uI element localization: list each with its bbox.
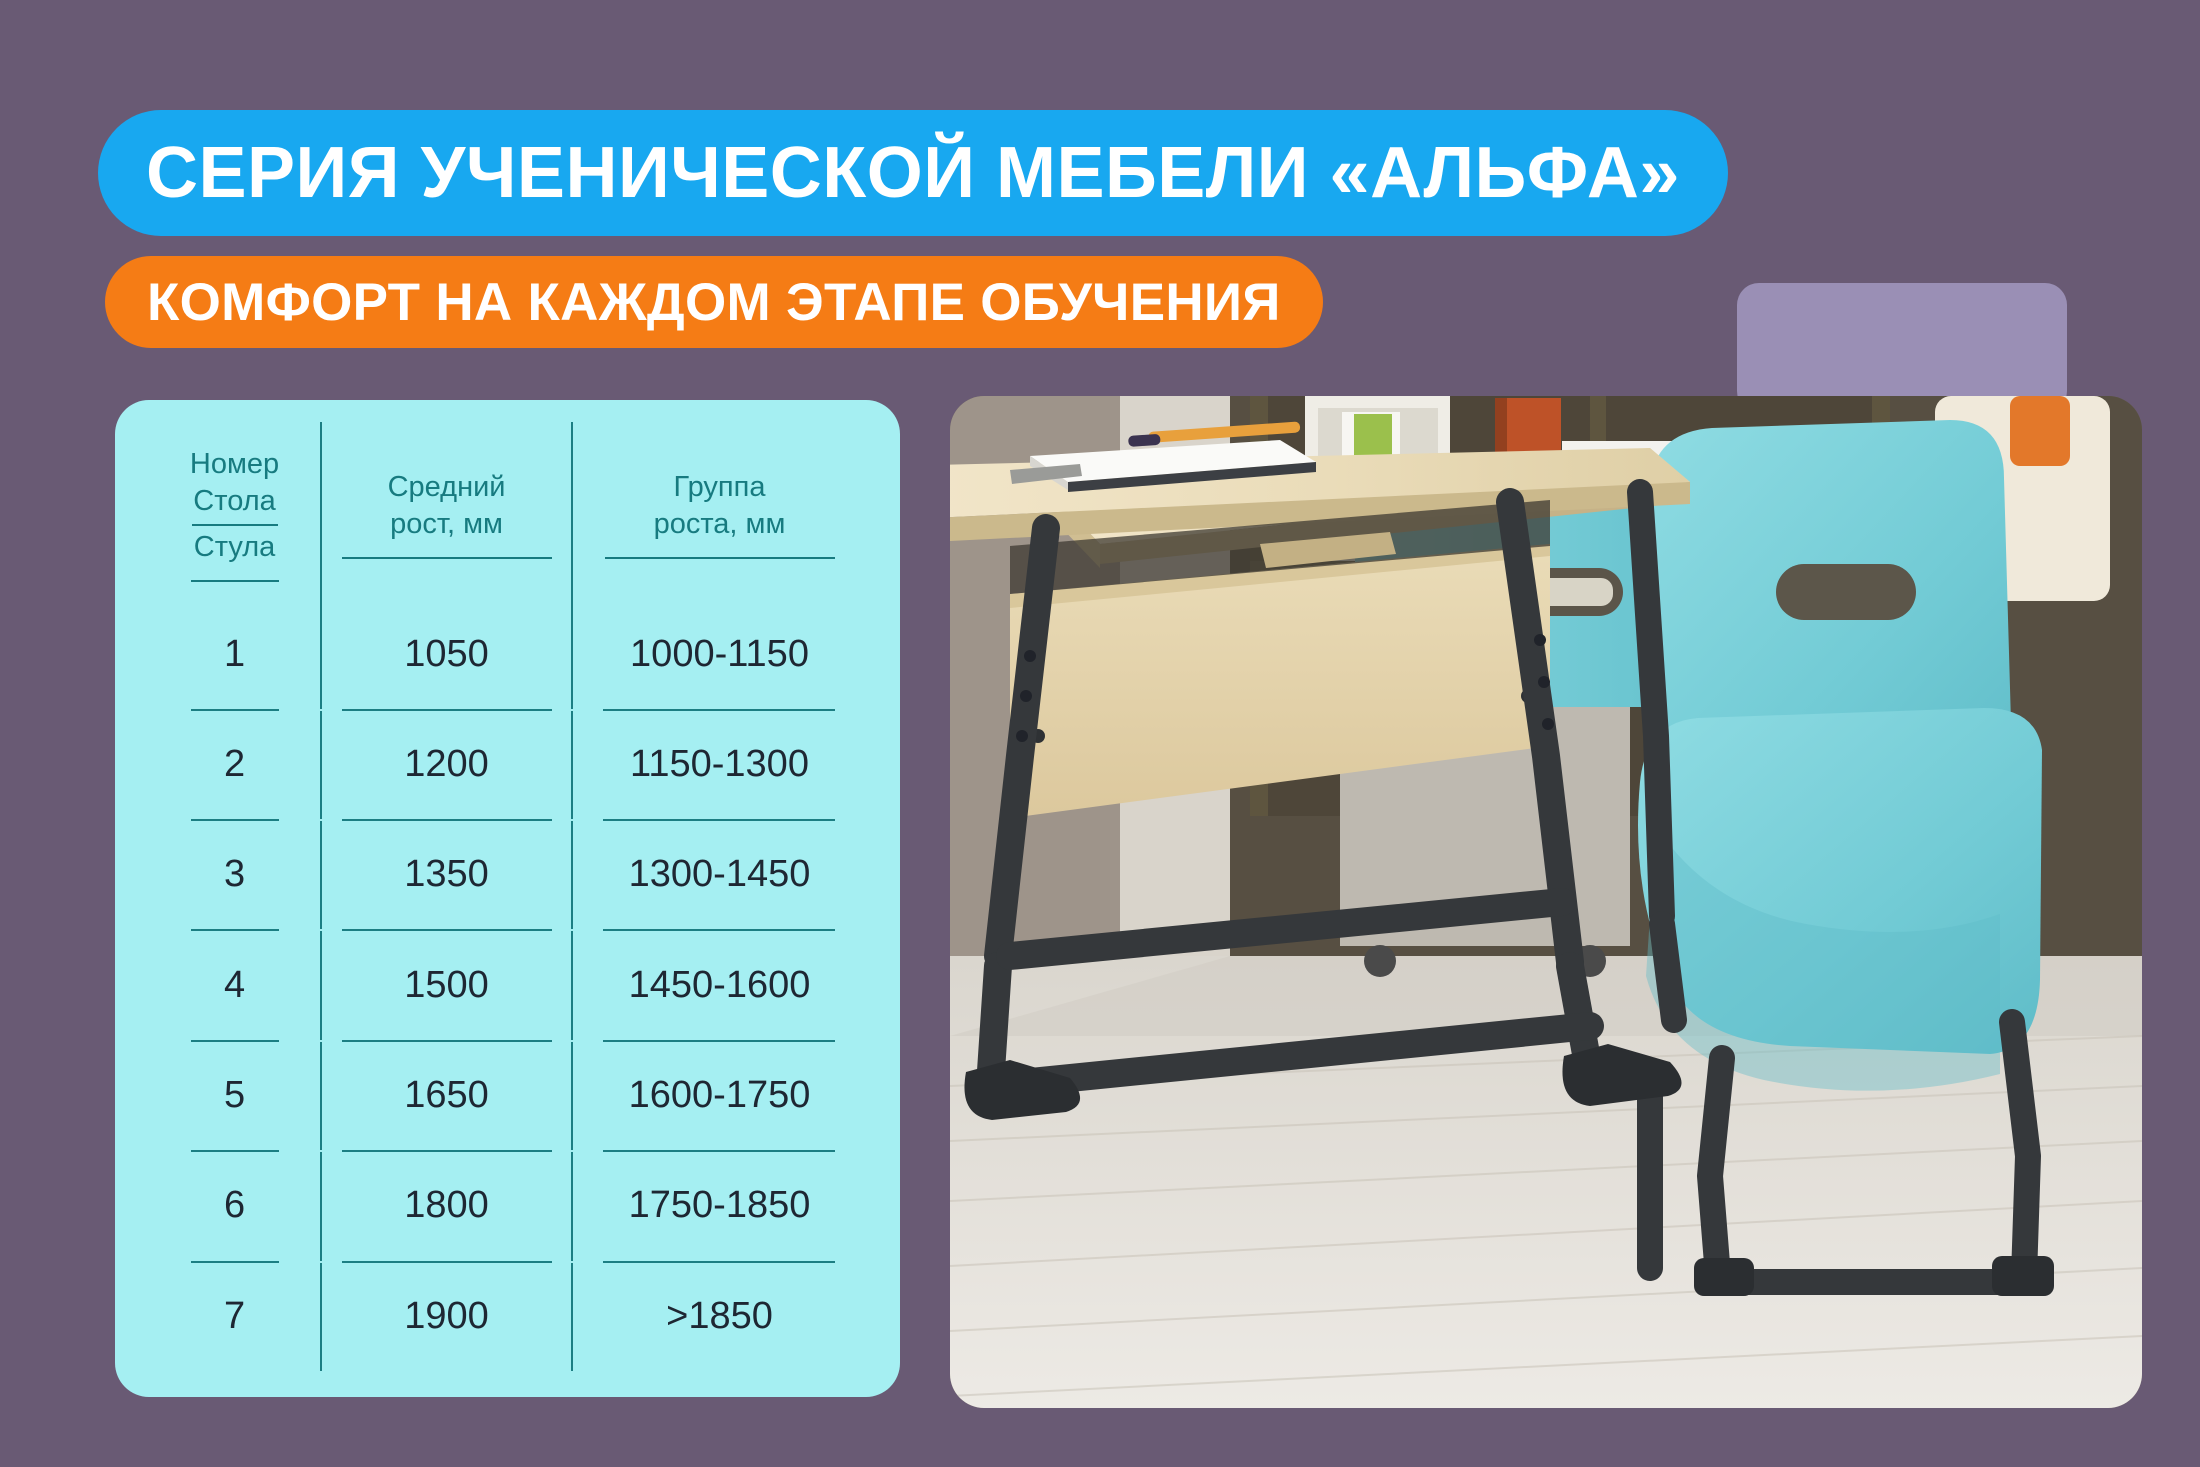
cell-height-group: 1150-1300 [572,711,866,819]
header-sredniy-label: Средний [326,469,567,506]
cell-desk-chair-number: 1 [149,600,321,708]
table-header: Номер Стола Стула Средний рост, мм Групп… [149,422,866,600]
table-row: 71900>1850 [149,1263,866,1371]
header-gruppa-label: Группа [577,469,862,506]
cell-height-group: 1450-1600 [572,931,866,1039]
header-desk-chair-number: Номер Стола Стула [149,422,321,600]
cell-desk-chair-number: 2 [149,711,321,819]
table-body: 110501000-1150212001150-1300313501300-14… [149,600,866,1371]
cell-height-group: 1000-1150 [572,600,866,708]
header-rule-col2 [342,557,552,559]
header-rule-col3 [605,557,835,559]
cell-desk-chair-number: 4 [149,931,321,1039]
size-chart-table: Номер Стола Стула Средний рост, мм Групп… [149,422,866,1371]
cell-average-height: 1200 [321,711,572,819]
fraction-bar [192,524,278,526]
table-row: 516501600-1750 [149,1042,866,1150]
header-numer-label: Номер [153,446,316,483]
cell-average-height: 1650 [321,1042,572,1150]
size-chart-card: Номер Стола Стула Средний рост, мм Групп… [115,400,900,1397]
header-rule-col1 [191,580,279,582]
cell-desk-chair-number: 6 [149,1152,321,1260]
table-row: 415001450-1600 [149,931,866,1039]
cell-height-group: 1300-1450 [572,821,866,929]
header-rosta-mm-label: роста, мм [577,506,862,543]
cell-height-group: 1750-1850 [572,1152,866,1260]
page-title: СЕРИЯ УЧЕНИЧЕСКОЙ МЕБЕЛИ «АЛЬФА» [146,137,1680,209]
header-rost-mm-label: рост, мм [326,506,567,543]
cell-desk-chair-number: 7 [149,1263,321,1371]
cell-average-height: 1900 [321,1263,572,1371]
cell-desk-chair-number: 5 [149,1042,321,1150]
table-row: 110501000-1150 [149,600,866,708]
table-row: 313501300-1450 [149,821,866,929]
classroom-scene [950,396,2142,1408]
table-row: 618001750-1850 [149,1152,866,1260]
subtitle-banner: КОМФОРТ НА КАЖДОМ ЭТАПЕ ОБУЧЕНИЯ [105,256,1323,348]
photo-backplate [1737,283,2067,413]
cell-desk-chair-number: 3 [149,821,321,929]
product-photo [950,396,2142,1408]
desk-over-chair-fraction: Стола Стула [192,483,278,566]
main-title-banner: СЕРИЯ УЧЕНИЧЕСКОЙ МЕБЕЛИ «АЛЬФА» [98,110,1728,236]
cell-average-height: 1500 [321,931,572,1039]
cell-average-height: 1050 [321,600,572,708]
page-subtitle: КОМФОРТ НА КАЖДОМ ЭТАПЕ ОБУЧЕНИЯ [147,276,1281,329]
header-stula-label: Стула [192,529,278,566]
header-height-group: Группа роста, мм [572,422,866,600]
cell-average-height: 1350 [321,821,572,929]
header-average-height: Средний рост, мм [321,422,572,600]
cell-height-group: 1600-1750 [572,1042,866,1150]
cell-average-height: 1800 [321,1152,572,1260]
cell-height-group: >1850 [572,1263,866,1371]
header-stola-label: Стола [192,483,278,520]
table-row: 212001150-1300 [149,711,866,819]
